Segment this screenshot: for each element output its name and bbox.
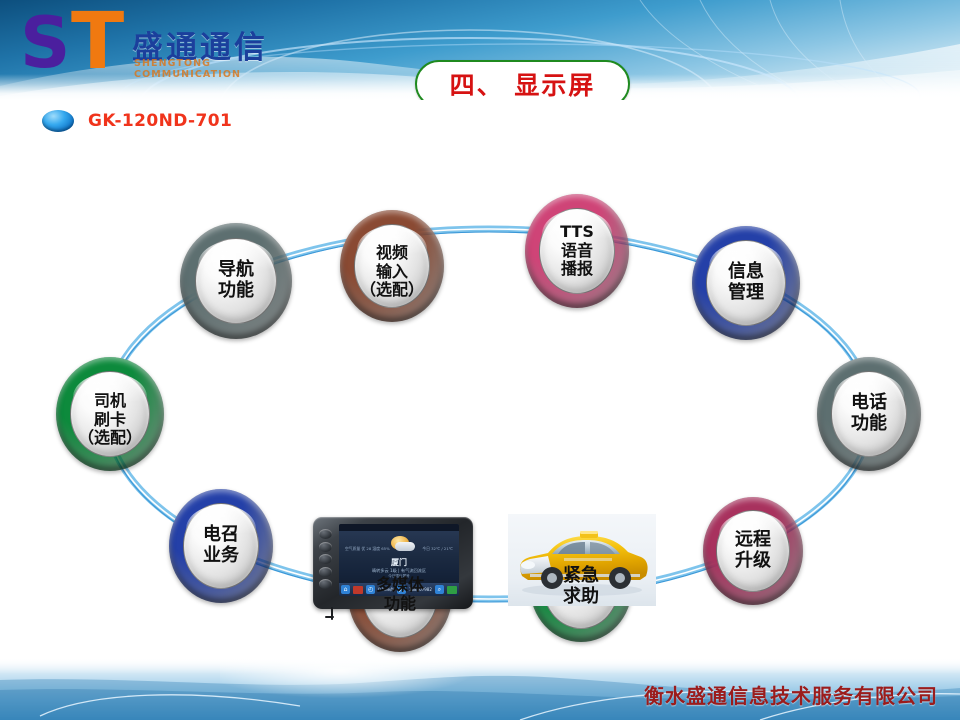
node-label-line: 播报 xyxy=(560,260,594,279)
device-status-bar xyxy=(339,524,459,531)
company-logo: S T 盛通通信 SHENGTONG COMMUNICATION xyxy=(14,14,314,76)
node-label-line: 紧急 xyxy=(563,566,599,587)
node-label-line: 输入 xyxy=(360,263,424,282)
device-side-buttons xyxy=(319,529,332,589)
cycle-node-1[interactable]: 导航功能 xyxy=(180,223,292,339)
cycle-node-2[interactable]: 视频输入（选配） xyxy=(340,210,444,322)
node-label-line: 管理 xyxy=(728,283,764,304)
slide-footer: 衡水盛通信息技术服务有限公司 xyxy=(0,658,960,720)
cycle-node-4[interactable]: 信息管理 xyxy=(692,226,800,340)
cycle-node-9[interactable]: 电召业务 xyxy=(169,489,273,603)
device-cord xyxy=(331,607,333,620)
device-button-4[interactable] xyxy=(319,567,332,577)
device-button-2[interactable] xyxy=(319,542,332,552)
node-label-line: （选配） xyxy=(360,281,424,300)
node-label-line: 远程 xyxy=(735,530,771,551)
model-label: GK-120ND-701 xyxy=(88,111,232,131)
device-cord-end xyxy=(325,616,334,618)
node-label: 电召业务 xyxy=(203,525,239,567)
home-icon[interactable]: ⌂ xyxy=(341,585,350,594)
page-title: 四、 显示屏 xyxy=(450,66,596,100)
section-title-box: 四、 显示屏 xyxy=(415,60,630,100)
cycle-node-3[interactable]: TTS语音播报 xyxy=(525,194,629,308)
screen-city-name: 厦门 xyxy=(339,557,459,568)
node-label: 导航功能 xyxy=(218,260,254,302)
node-label-line: 升级 xyxy=(735,551,771,572)
node-label-line: 业务 xyxy=(203,546,239,567)
slide-header: S T 盛通通信 SHENGTONG COMMUNICATION 四、 显示屏 xyxy=(0,0,960,100)
cycle-node-6[interactable]: 远程升级 xyxy=(703,497,803,605)
slide-canvas: S T 盛通通信 SHENGTONG COMMUNICATION 四、 显示屏 … xyxy=(0,0,960,720)
speed-icon: ◴ xyxy=(366,585,375,594)
footer-company-name: 衡水盛通信息技术服务有限公司 xyxy=(644,680,938,709)
footer-top-fade xyxy=(0,658,960,674)
cycle-node-5[interactable]: 电话功能 xyxy=(817,357,921,471)
node-label-line: 司机 xyxy=(78,392,142,411)
cycle-node-10[interactable]: 司机刷卡（选配） xyxy=(56,357,164,471)
node-label-line: 功能 xyxy=(851,414,887,435)
node-label: 紧急求助 xyxy=(563,566,599,608)
node-label-line: 刷卡 xyxy=(78,411,142,430)
node-label-line: 电召 xyxy=(203,525,239,546)
node-label: 视频输入（选配） xyxy=(360,244,424,300)
node-label: TTS语音播报 xyxy=(560,223,594,279)
device-button-5[interactable] xyxy=(319,579,332,589)
node-label-line: 多媒体 xyxy=(376,576,424,595)
screen-left-text: 空气质量 优 28 湿度 65% xyxy=(345,546,390,552)
model-bullet-row: GK-120ND-701 xyxy=(42,110,232,132)
logo-company-en: SHENGTONG COMMUNICATION xyxy=(134,58,314,80)
device-button-1[interactable] xyxy=(319,529,332,539)
node-label: 远程升级 xyxy=(735,530,771,572)
taskbar-badge-right[interactable] xyxy=(447,586,457,594)
node-label: 司机刷卡（选配） xyxy=(78,392,142,448)
node-label-line: 电话 xyxy=(851,393,887,414)
node-label-line: 视频 xyxy=(360,244,424,263)
node-label: 电话功能 xyxy=(851,393,887,435)
search-icon[interactable]: ⌕ xyxy=(435,585,444,594)
node-label-line: 功能 xyxy=(376,595,424,614)
screen-right-text: 今日 32℃ / 21℃ xyxy=(422,546,453,552)
blue-ellipse-bullet-icon xyxy=(42,110,74,132)
node-label-line: （选配） xyxy=(78,429,142,448)
device-button-3[interactable] xyxy=(319,554,332,564)
cycle-diagram: 导航功能视频输入（选配）TTS语音播报信息管理电话功能远程升级紧急求助多媒体功能… xyxy=(0,150,960,660)
node-label-line: TTS xyxy=(560,223,594,242)
weather-cloud-icon xyxy=(395,542,415,551)
taskbar-badge-left[interactable] xyxy=(353,586,363,594)
node-label-line: 信息 xyxy=(728,262,764,283)
node-label-line: 功能 xyxy=(218,281,254,302)
logo-letter-t: T xyxy=(71,14,124,70)
node-label: 多媒体功能 xyxy=(376,576,424,613)
node-label: 信息管理 xyxy=(728,262,764,304)
node-label-line: 导航 xyxy=(218,260,254,281)
node-label-line: 求助 xyxy=(563,587,599,608)
node-label-line: 语音 xyxy=(560,242,594,261)
